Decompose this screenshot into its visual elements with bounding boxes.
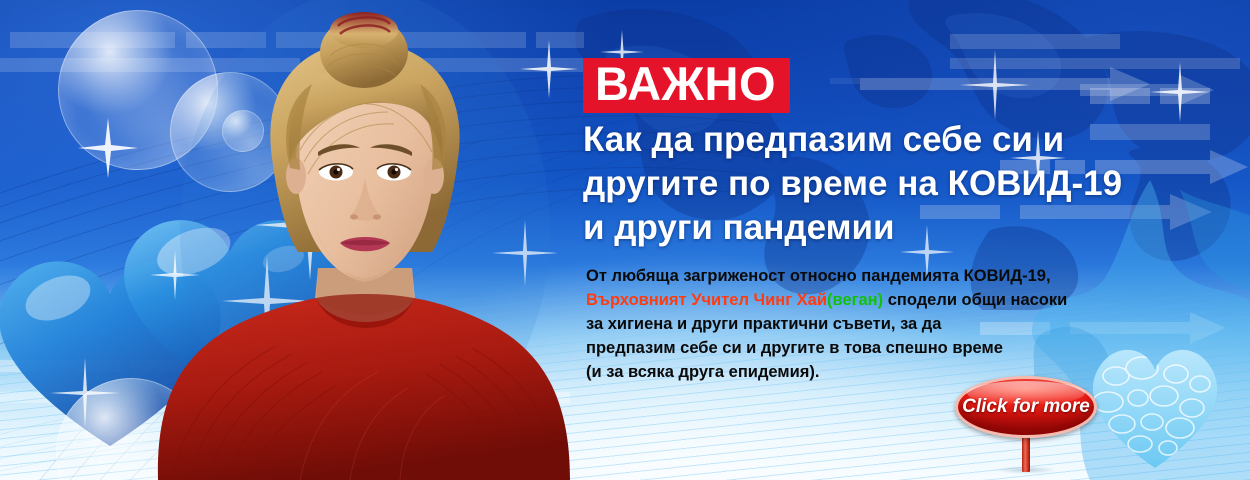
body-paragraph: От любяща загриженост относно пандемията… (586, 264, 1186, 384)
banner-content: ВАЖНО Как да предпазим себе си и другите… (583, 0, 1243, 480)
important-badge: ВАЖНО (583, 58, 790, 113)
cta-label: Click for more (955, 376, 1097, 438)
portrait-photo (150, 0, 580, 480)
paragraph-line-4: предпазим себе си и другите в това спешн… (586, 336, 1186, 360)
paragraph-line-2: Върховният Учител Чинг Хай(веган) сподел… (586, 288, 1186, 312)
supreme-master-name: Върховният Учител Чинг Хай (586, 291, 827, 309)
paragraph-line-3: за хигиена и други практични съвети, за … (586, 312, 1186, 336)
headline-line-1: Как да предпазим себе си и (583, 118, 1183, 162)
page-title: Как да предпазим себе си и другите по вр… (583, 118, 1183, 250)
important-badge-label: ВАЖНО (595, 60, 776, 107)
headline-line-3: и други пандемии (583, 206, 1183, 250)
vegan-label: (веган) (827, 291, 883, 309)
headline-line-2: другите по време на КОВИД-19 (583, 162, 1183, 206)
click-for-more-button[interactable]: Click for more (955, 376, 1097, 472)
paragraph-line-2-rest: сподели общи насоки (883, 291, 1067, 309)
covid-awareness-banner: ВАЖНО Как да предпазим себе си и другите… (0, 0, 1250, 480)
paragraph-line-1: От любяща загриженост относно пандемията… (586, 264, 1186, 288)
